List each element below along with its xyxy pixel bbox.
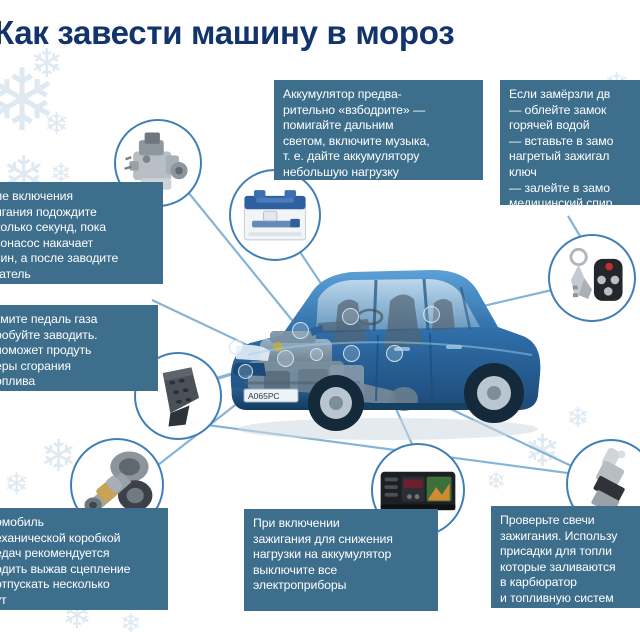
badge-battery[interactable] [229,169,321,261]
hotspot-node [229,340,244,355]
callout-press-gas-pedal: кмите педаль газа робуйте заводить. помо… [0,305,158,391]
callout-battery-cheer: Аккумулятор предва- рительно «взбодрите»… [274,80,483,180]
hotspot-node [423,306,440,323]
car-key-fob-icon [550,236,634,320]
callout-spark-plugs-additives: Проверьте свечи зажигания. Использу прис… [491,506,640,608]
callout-frozen-locks: Если замёрзли дв — облейте замок горячей… [500,80,640,205]
hotspot-node [238,364,253,379]
car-battery-icon [231,171,319,259]
hotspot-node [310,348,323,361]
hotspot-node [343,345,360,362]
car-illustration: А065РС [218,243,548,448]
callout-fuel-pump-wait: ле включения игания подождите колько сек… [0,182,163,284]
hotspot-node [386,345,403,362]
badge-car-key[interactable] [548,234,636,322]
callout-manual-clutch: омобиль еханической коробкой едач рекоме… [0,508,168,610]
callout-turn-off-electrics: При включении зажигания для снижения наг… [244,509,438,611]
svg-text:А065РС: А065РС [248,391,280,401]
infographic-canvas: ❄ ❄ ❄ ❄ ❄ ❄ ❄ ❄ ❄ ❄ ❄ ❄ ❄ ❄ Как завести … [0,0,640,640]
hotspot-node [342,308,359,325]
hotspot-node [277,350,294,367]
hotspot-node [292,322,309,339]
